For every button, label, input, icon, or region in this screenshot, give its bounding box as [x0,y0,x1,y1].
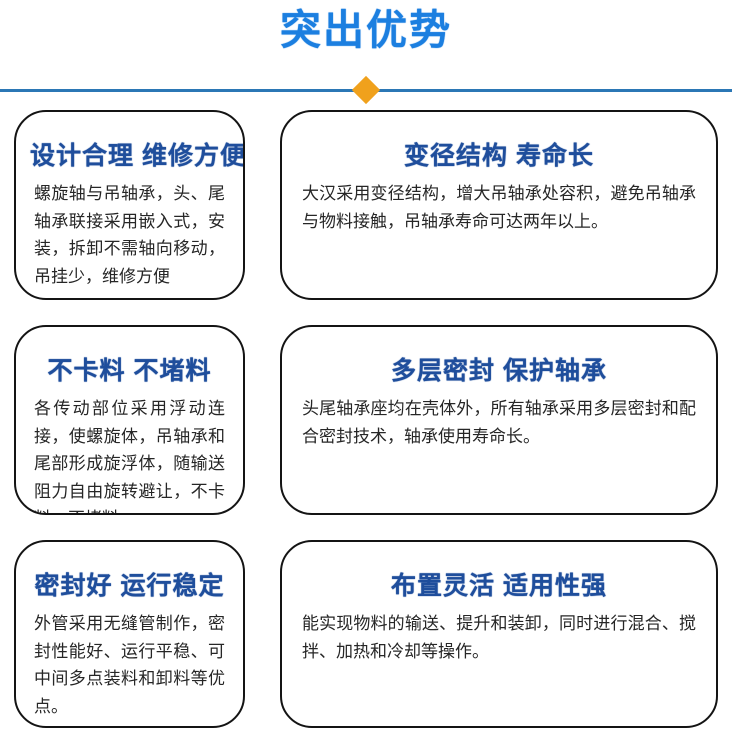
advantage-card-heading: 不卡料 不堵料 [30,353,229,389]
advantage-card-6: 布置灵活 适用性强 能实现物料的输送、提升和装卸，同时进行混合、搅拌、加热和冷却… [280,540,718,728]
page-header: 突出优势 [0,0,732,96]
advantage-card-body: 螺旋轴与吊轴承，头、尾轴承联接采用嵌入式，安装，拆卸不需轴向移动，吊挂少，维修方… [30,180,229,290]
advantage-card-heading: 变径结构 寿命长 [296,138,702,174]
advantage-card-body: 头尾轴承座均在壳体外，所有轴承采用多层密封和配合密封技术，轴承使用寿命长。 [296,395,702,450]
advantage-card-heading: 多层密封 保护轴承 [296,353,702,389]
advantage-card-heading: 密封好 运行稳定 [30,568,229,604]
advantage-card-5: 密封好 运行稳定 外管采用无缝管制作，密封性能好、运行平稳、可中间多点装料和卸料… [14,540,245,728]
advantages-card-grid: 设计合理 维修方便 螺旋轴与吊轴承，头、尾轴承联接采用嵌入式，安装，拆卸不需轴向… [14,110,718,728]
advantage-card-heading: 设计合理 维修方便 [30,138,229,174]
advantage-card-3: 不卡料 不堵料 各传动部位采用浮动连接，使螺旋体，吊轴承和尾部形成旋浮体，随输送… [14,325,245,515]
advantage-card-4: 多层密封 保护轴承 头尾轴承座均在壳体外，所有轴承采用多层密封和配合密封技术，轴… [280,325,718,515]
header-divider [0,78,732,102]
advantage-card-heading: 布置灵活 适用性强 [296,568,702,604]
advantage-card-body: 各传动部位采用浮动连接，使螺旋体，吊轴承和尾部形成旋浮体，随输送阻力自由旋转避让… [30,395,229,515]
diamond-icon [352,76,380,104]
advantage-card-1: 设计合理 维修方便 螺旋轴与吊轴承，头、尾轴承联接采用嵌入式，安装，拆卸不需轴向… [14,110,245,300]
advantage-card-body: 外管采用无缝管制作，密封性能好、运行平稳、可中间多点装料和卸料等优点。 [30,610,229,720]
page-title: 突出优势 [0,0,732,54]
advantage-card-2: 变径结构 寿命长 大汉采用变径结构，增大吊轴承处容积，避免吊轴承与物料接触，吊轴… [280,110,718,300]
advantage-card-body: 大汉采用变径结构，增大吊轴承处容积，避免吊轴承与物料接触，吊轴承寿命可达两年以上… [296,180,702,235]
advantage-card-body: 能实现物料的输送、提升和装卸，同时进行混合、搅拌、加热和冷却等操作。 [296,610,702,665]
